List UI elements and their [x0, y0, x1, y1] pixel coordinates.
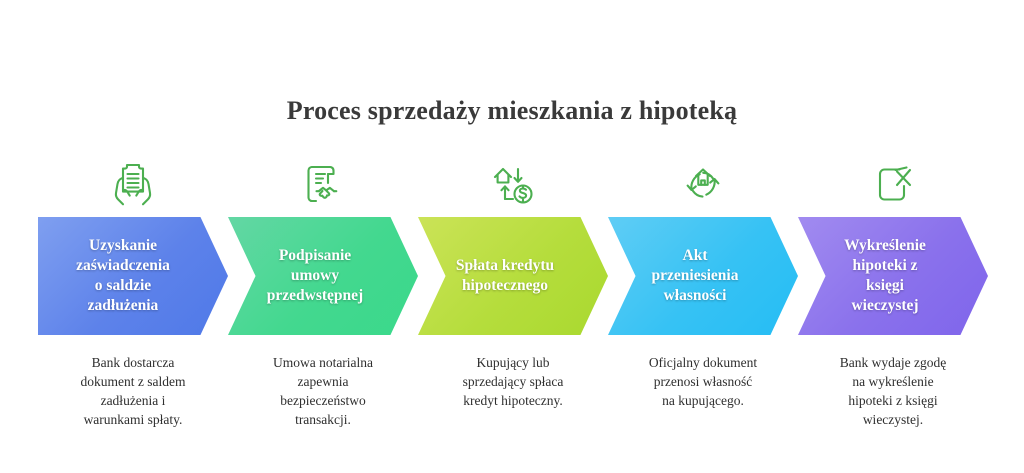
process-step-2: Podpisanie umowy przedwstępnej Umowa not… [228, 155, 418, 455]
step-caption-5: Bank wydaje zgodę na wykreślenie hipotek… [796, 353, 990, 430]
hands-holding-document-icon [38, 155, 228, 213]
step-chevron-fill-4: Akt przeniesienia własności [608, 217, 798, 335]
process-infographic: Proces sprzedaży mieszkania z hipoteką U… [0, 0, 1024, 473]
house-transfer-arrows-icon [608, 155, 798, 213]
contract-handshake-icon [228, 155, 418, 213]
step-caption-3: Kupujący lub sprzedający spłaca kredyt h… [416, 353, 610, 410]
document-cross-out-icon [798, 155, 988, 213]
step-label-5: Wykreślenie hipoteki z księgi wieczystej [844, 236, 926, 317]
process-step-1: Uzyskanie zaświadczenia o saldzie zadłuż… [38, 155, 228, 455]
step-label-2: Podpisanie umowy przedwstępnej [267, 246, 363, 306]
step-chevron-fill-5: Wykreślenie hipoteki z księgi wieczystej [798, 217, 988, 335]
step-chevron-3: Spłata kredytu hipotecznego [418, 217, 608, 335]
step-chevron-fill-3: Spłata kredytu hipotecznego [418, 217, 608, 335]
step-chevron-fill-2: Podpisanie umowy przedwstępnej [228, 217, 418, 335]
step-chevron-5: Wykreślenie hipoteki z księgi wieczystej [798, 217, 988, 335]
process-step-5: Wykreślenie hipoteki z księgi wieczystej… [798, 155, 988, 455]
step-label-1: Uzyskanie zaświadczenia o saldzie zadłuż… [76, 236, 170, 317]
process-step-4: Akt przeniesienia własności Oficjalny do… [608, 155, 798, 455]
page-title: Proces sprzedaży mieszkania z hipoteką [0, 96, 1024, 126]
step-chevron-fill-1: Uzyskanie zaświadczenia o saldzie zadłuż… [38, 217, 228, 335]
step-chevron-1: Uzyskanie zaświadczenia o saldzie zadłuż… [38, 217, 228, 335]
step-chevron-2: Podpisanie umowy przedwstępnej [228, 217, 418, 335]
step-chevron-4: Akt przeniesienia własności [608, 217, 798, 335]
process-step-3: Spłata kredytu hipotecznego Kupujący lub… [418, 155, 608, 455]
process-steps: Uzyskanie zaświadczenia o saldzie zadłuż… [38, 155, 988, 455]
house-money-exchange-icon [418, 155, 608, 213]
step-caption-4: Oficjalny dokument przenosi własność na … [606, 353, 800, 410]
step-caption-1: Bank dostarcza dokument z saldem zadłuże… [36, 353, 230, 430]
step-label-3: Spłata kredytu hipotecznego [456, 256, 554, 296]
step-caption-2: Umowa notarialna zapewnia bezpieczeństwo… [226, 353, 420, 430]
step-label-4: Akt przeniesienia własności [652, 246, 739, 306]
